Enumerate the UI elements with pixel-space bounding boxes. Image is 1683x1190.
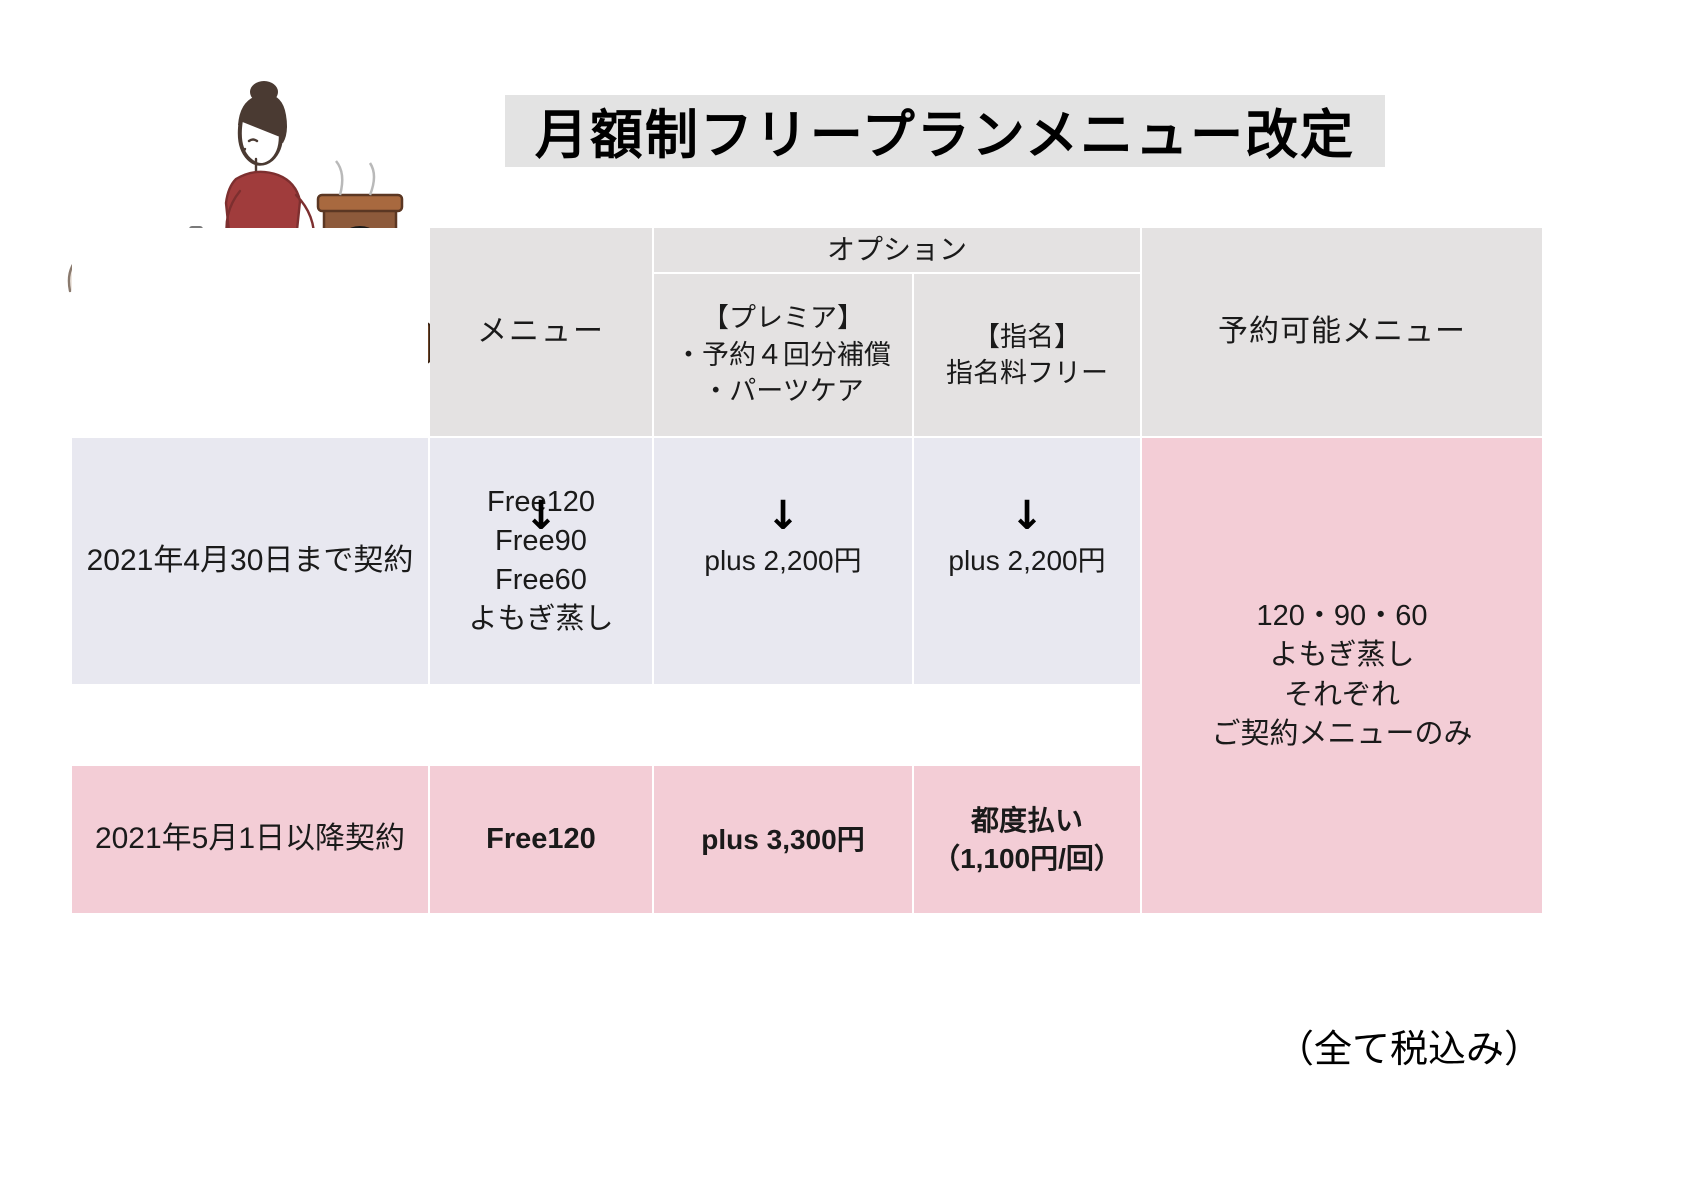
header-shimei-line1: 【指名】 <box>973 319 1081 355</box>
arrow-shimei-icon: ↓ <box>914 496 1140 536</box>
reservable-line3: それぞれ <box>1284 676 1400 715</box>
reservable-line1: 120・90・60 <box>1257 597 1428 636</box>
row-new-menu-line1: Free120 <box>486 820 596 859</box>
row-new-shimei-line1: 都度払い <box>971 802 1083 840</box>
row-old-menu-line3: Free60 <box>495 561 587 600</box>
row-old-premia: plus 2,200円 <box>654 438 912 684</box>
tax-note: （全て税込み） <box>1150 1018 1542 1073</box>
row-new-premia: plus 3,300円 <box>654 766 912 913</box>
header-premia: 【プレミア】 ・予約４回分補償 ・パーツケア <box>654 274 912 436</box>
row-new-premia-value: plus 3,300円 <box>701 821 864 859</box>
header-premia-line2: ・予約４回分補償 <box>675 337 891 373</box>
row-new-date-label: 2021年5月1日以降契約 <box>95 819 405 860</box>
row-new-menu: Free120 <box>430 766 652 913</box>
page-title-banner: 月額制フリープランメニュー改定 <box>505 95 1385 167</box>
page-title: 月額制フリープランメニュー改定 <box>535 93 1355 169</box>
header-option-group-label: オプション <box>827 231 967 269</box>
arrow-menu-icon: ↓ <box>430 496 652 536</box>
row-new-date: 2021年5月1日以降契約 <box>72 766 428 913</box>
row-old-premia-value: plus 2,200円 <box>704 542 861 580</box>
header-menu-label: メニュー <box>477 312 605 353</box>
header-shimei-line2: 指名料フリー <box>946 355 1108 391</box>
row-old-date: 2021年4月30日まで契約 <box>72 438 428 684</box>
header-shimei: 【指名】 指名料フリー <box>914 274 1140 436</box>
row-old-date-label: 2021年4月30日まで契約 <box>87 541 414 582</box>
row-new-shimei-line2: （1,100円/回） <box>932 840 1122 878</box>
header-option-group: オプション <box>654 228 1140 272</box>
reservable-line2: よもぎ蒸し <box>1269 636 1414 675</box>
row-old-shimei-value: plus 2,200円 <box>948 542 1105 580</box>
cell-reservable-menu: 120・90・60 よもぎ蒸し それぞれ ご契約メニューのみ <box>1142 438 1542 913</box>
arrow-premia-icon: ↓ <box>654 496 912 536</box>
reservable-line4: ご契約メニューのみ <box>1211 715 1472 754</box>
pricing-table: メニュー オプション 【プレミア】 ・予約４回分補償 ・パーツケア 【指名】 指… <box>72 228 1542 913</box>
header-reservable: 予約可能メニュー <box>1142 228 1542 436</box>
header-reservable-label: 予約可能メニュー <box>1218 312 1466 353</box>
header-premia-line1: 【プレミア】 <box>702 300 864 336</box>
header-premia-line3: ・パーツケア <box>702 373 863 409</box>
row-old-shimei: plus 2,200円 <box>914 438 1140 684</box>
row-old-menu-line4: よもぎ蒸し <box>468 600 613 639</box>
row-new-shimei: 都度払い （1,100円/回） <box>914 766 1140 913</box>
header-menu: メニュー <box>430 228 652 436</box>
header-corner-empty <box>72 228 428 436</box>
row-old-menu: Free120 Free90 Free60 よもぎ蒸し <box>430 438 652 684</box>
